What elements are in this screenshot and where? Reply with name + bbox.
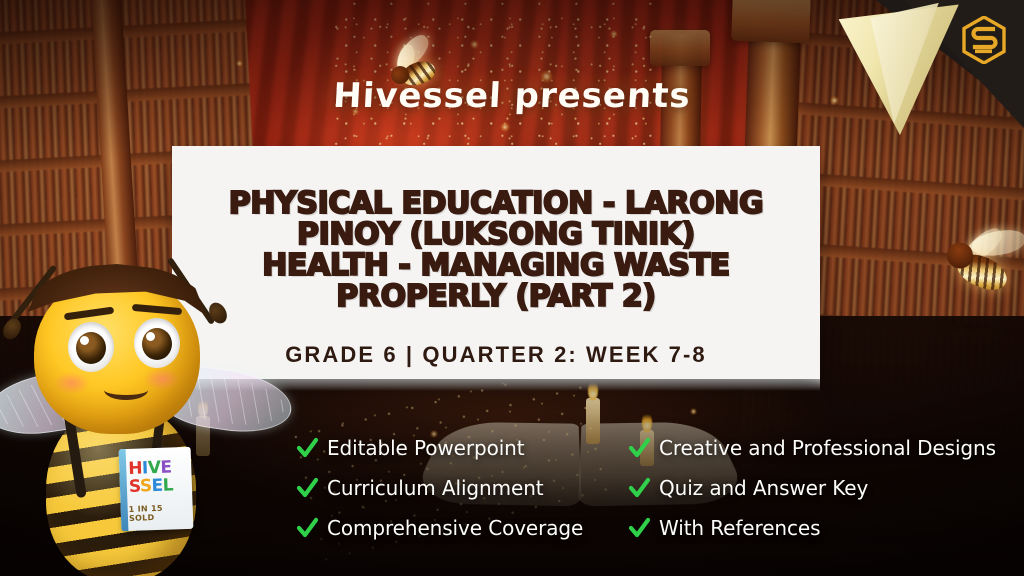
list-item: Comprehensive Coverage <box>296 508 583 548</box>
check-icon <box>296 435 318 461</box>
feature-label: Quiz and Answer Key <box>659 476 868 500</box>
check-icon <box>628 475 650 501</box>
book-title-line-2: SSEL <box>129 477 190 496</box>
feature-column-right: Creative and Professional Designs Quiz a… <box>628 428 996 548</box>
grade-quarter-subtitle: GRADE 6 | QUARTER 2: WEEK 7-8 <box>212 342 780 368</box>
mascot-blush-right <box>144 368 180 390</box>
title-line-4: PROPERLY (PART 2) <box>212 281 780 312</box>
list-item: Editable Powerpoint <box>296 428 583 468</box>
mascot-eye-gleam-left <box>80 336 89 345</box>
mascot-smile <box>104 380 148 400</box>
list-item: Creative and Professional Designs <box>628 428 996 468</box>
feature-label: Creative and Professional Designs <box>659 436 996 460</box>
page-title: PHYSICAL EDUCATION - LARONG PINOY (LUKSO… <box>212 188 780 312</box>
title-line-3: HEALTH - MANAGING WASTE <box>212 250 780 281</box>
feature-label: Editable Powerpoint <box>327 436 524 460</box>
title-line-1: PHYSICAL EDUCATION - LARONG <box>212 188 780 219</box>
book-letter: S <box>129 477 141 497</box>
title-line-2: PINOY (LUKSONG TINIK) <box>212 219 780 250</box>
feature-label: With References <box>659 516 820 540</box>
mascot-blush-left <box>54 372 90 394</box>
book-footer-text: 1 IN 15 SOLD <box>129 503 191 523</box>
presentation-slide: Hivessel presents PHYSICAL EDUCATION - L… <box>0 0 1024 576</box>
presents-headline: Hivessel presents <box>0 76 1024 116</box>
feature-label: Curriculum Alignment <box>327 476 544 500</box>
book-letter: E <box>151 476 163 496</box>
list-item: With References <box>628 508 996 548</box>
hexagon-s-logo-icon[interactable] <box>962 16 1006 64</box>
check-icon <box>628 435 650 461</box>
check-icon <box>628 515 650 541</box>
book-spine <box>119 449 129 531</box>
mascot-book: HIVE SSEL 1 IN 15 SOLD <box>119 447 194 531</box>
check-icon <box>296 515 318 541</box>
check-icon <box>296 475 318 501</box>
mascot-eye-gleam-right <box>146 332 155 341</box>
mascot-antenna-tip-left <box>0 315 24 342</box>
list-item: Curriculum Alignment <box>296 468 583 508</box>
book-letter: L <box>162 475 173 495</box>
feature-column-left: Editable Powerpoint Curriculum Alignment… <box>296 428 583 548</box>
bee-mascot: HIVE SSEL 1 IN 15 SOLD <box>0 252 292 576</box>
list-item: Quiz and Answer Key <box>628 468 996 508</box>
feature-label: Comprehensive Coverage <box>327 516 583 540</box>
book-letter: S <box>140 476 152 496</box>
